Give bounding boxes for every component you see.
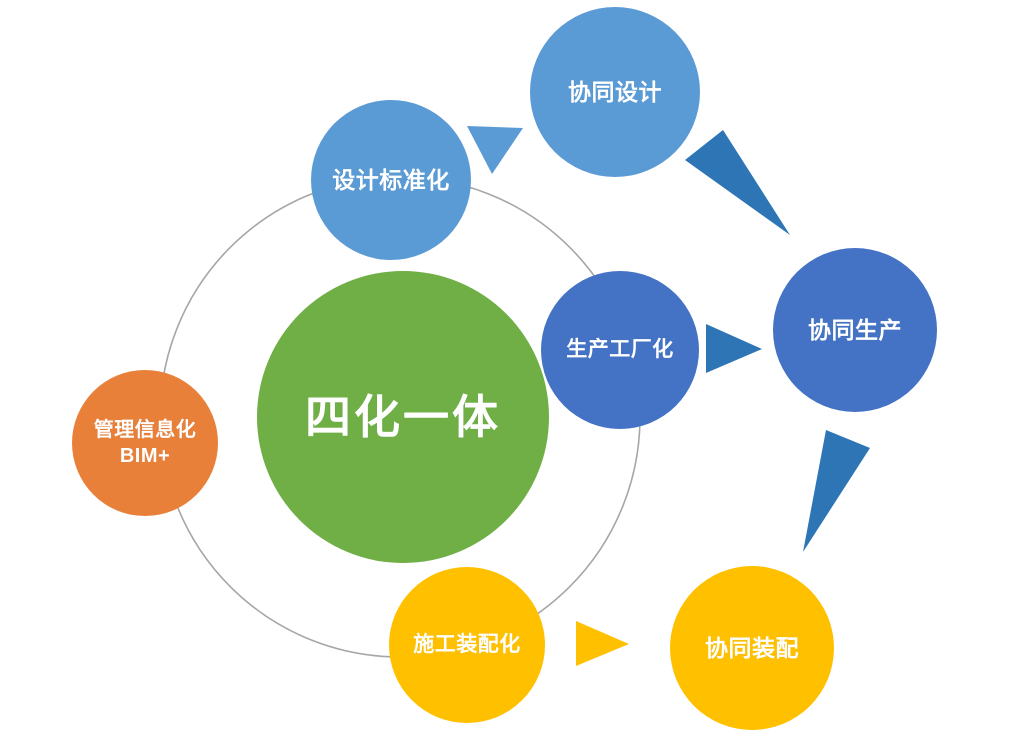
node-collaborative-production[interactable]	[773, 248, 937, 412]
node-center[interactable]	[257, 271, 549, 563]
node-assembled-construction[interactable]	[389, 567, 545, 723]
arrow-collab-production-to-collab-assembly-icon	[803, 430, 870, 552]
node-collaborative-assembly[interactable]	[670, 566, 834, 730]
arrow-factory-to-collab-production-icon	[706, 324, 762, 373]
diagram-canvas: 四化一体设计标准化协同设计生产工厂化协同生产施工装配化协同装配管理信息化 BIM…	[0, 0, 1020, 748]
arrow-collab-design-to-collab-production-icon	[685, 130, 790, 235]
node-factory-production[interactable]	[541, 271, 699, 429]
arrow-construction-to-collab-assembly-icon	[576, 621, 629, 666]
arrow-design-to-collab-design-icon	[467, 126, 523, 174]
node-management-informatization[interactable]	[72, 370, 218, 516]
node-collaborative-design[interactable]	[530, 7, 700, 177]
node-design-standardization[interactable]	[311, 100, 471, 260]
